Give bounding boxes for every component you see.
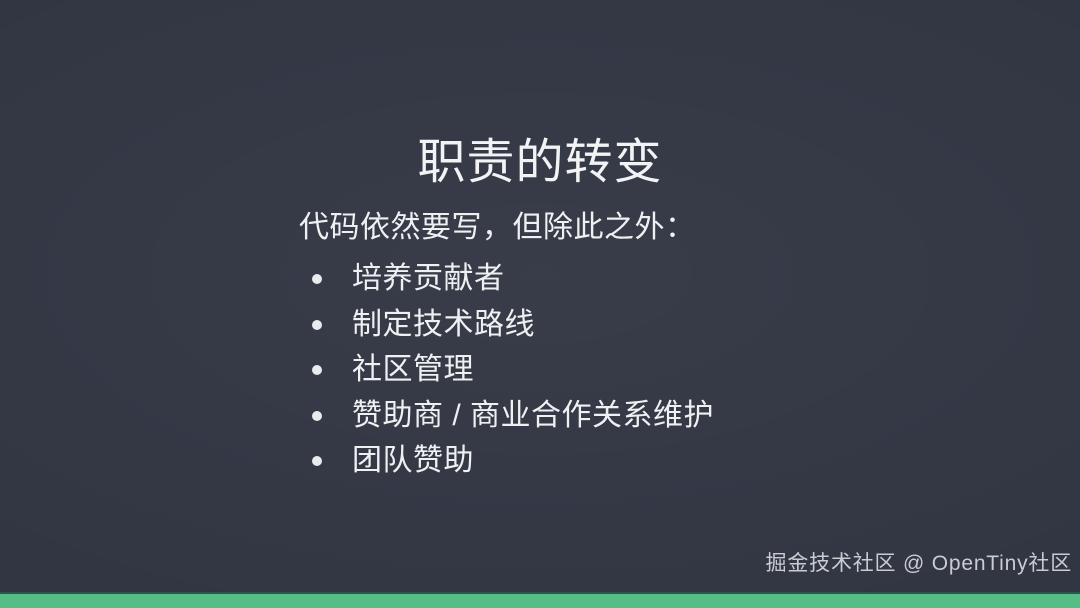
slide-content: 职责的转变 代码依然要写，但除此之外： 培养贡献者 制定技术路线 社区管理 <box>0 0 1080 608</box>
lead-line: 代码依然要写，但除此之外： <box>299 209 999 247</box>
list-item: 赞助商 / 商业合作关系维护 <box>299 393 999 439</box>
watermark: 掘金技术社区 @ OpenTiny社区 <box>766 551 1072 577</box>
list-item: 社区管理 <box>299 347 999 393</box>
bullet-dot-icon <box>312 456 322 466</box>
responsibility-bullet-list: 培养贡献者 制定技术路线 社区管理 赞助商 / 商业合作关系维护 团队赞助 <box>299 256 999 484</box>
list-item-label: 团队赞助 <box>352 443 474 479</box>
list-item-label: 制定技术路线 <box>352 307 535 343</box>
bullet-dot-icon <box>312 320 322 330</box>
list-item: 培养贡献者 <box>299 256 999 302</box>
accent-bar <box>0 594 1080 608</box>
list-item-label: 培养贡献者 <box>352 261 505 297</box>
bullet-dot-icon <box>312 365 322 375</box>
list-item-label: 赞助商 / 商业合作关系维护 <box>352 398 714 434</box>
list-item: 团队赞助 <box>299 438 999 484</box>
slide-title: 职责的转变 <box>0 135 1080 192</box>
slide-body: 代码依然要写，但除此之外： 培养贡献者 制定技术路线 社区管理 赞助商 / 商业… <box>299 209 999 484</box>
presentation-slide: 职责的转变 代码依然要写，但除此之外： 培养贡献者 制定技术路线 社区管理 <box>0 0 1080 608</box>
bullet-dot-icon <box>312 274 322 284</box>
list-item: 制定技术路线 <box>299 302 999 348</box>
list-item-label: 社区管理 <box>352 352 474 388</box>
bullet-dot-icon <box>312 411 322 421</box>
